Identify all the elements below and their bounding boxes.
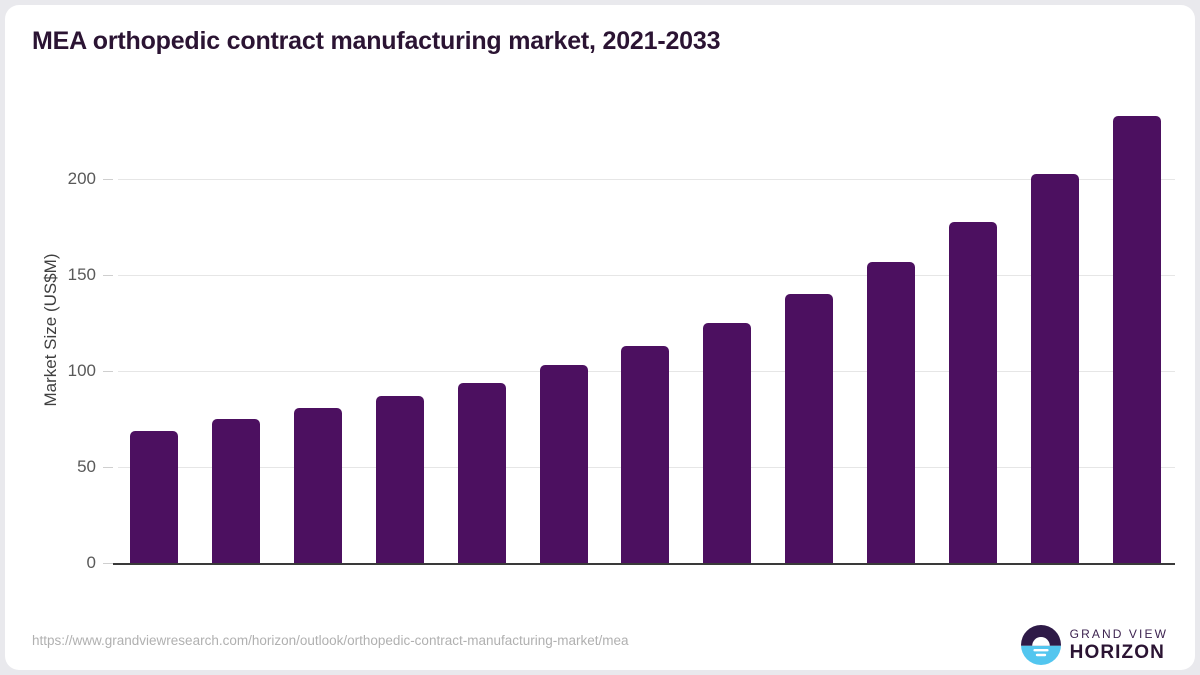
bar[interactable] xyxy=(458,383,506,563)
chart-plot-area: Market Size (US$M) 050100150200 20212022… xyxy=(113,95,1178,565)
bar[interactable] xyxy=(1031,174,1079,563)
y-axis-tick-mark xyxy=(103,467,113,468)
bar-slot xyxy=(195,95,277,563)
bar[interactable] xyxy=(212,419,260,563)
bar-slot xyxy=(359,95,441,563)
bar[interactable] xyxy=(621,346,669,563)
bar-slot xyxy=(523,95,605,563)
bar[interactable] xyxy=(703,323,751,563)
y-axis-tick-mark xyxy=(103,563,113,564)
bar-slot xyxy=(932,95,1014,563)
y-axis-tick-label: 0 xyxy=(26,553,96,573)
source-url[interactable]: https://www.grandviewresearch.com/horizo… xyxy=(32,633,629,648)
bar-slot xyxy=(686,95,768,563)
y-axis-tick-label: 150 xyxy=(26,265,96,285)
logo-text: GRAND VIEW HORIZON xyxy=(1070,628,1168,662)
bar-slot xyxy=(605,95,687,563)
bar-slot xyxy=(1014,95,1096,563)
bar-slot xyxy=(850,95,932,563)
plot-inner: 050100150200 202120222023202420252026202… xyxy=(113,95,1178,563)
chart-card: MEA orthopedic contract manufacturing ma… xyxy=(5,5,1195,670)
bar[interactable] xyxy=(294,408,342,563)
page-title: MEA orthopedic contract manufacturing ma… xyxy=(32,27,720,56)
bar[interactable] xyxy=(785,294,833,563)
bar-slot xyxy=(277,95,359,563)
bar-slot xyxy=(113,95,195,563)
logo-line-horizon: HORIZON xyxy=(1070,643,1168,662)
y-axis-tick-label: 50 xyxy=(26,457,96,477)
bar[interactable] xyxy=(130,431,178,563)
x-axis-line xyxy=(113,563,1175,565)
y-axis-tick-label: 200 xyxy=(26,169,96,189)
bar[interactable] xyxy=(867,262,915,563)
logo-line-grand-view: GRAND VIEW xyxy=(1070,628,1168,640)
bar-slot xyxy=(768,95,850,563)
y-axis-tick-mark xyxy=(103,371,113,372)
bar[interactable] xyxy=(540,365,588,563)
y-axis-tick-label: 100 xyxy=(26,361,96,381)
horizon-sun-circle-icon xyxy=(1021,625,1061,665)
y-axis-tick-mark xyxy=(103,179,113,180)
bar[interactable] xyxy=(1113,116,1161,563)
y-axis-tick-mark xyxy=(103,275,113,276)
bar[interactable] xyxy=(949,222,997,563)
bar-slot xyxy=(1096,95,1178,563)
bar-slot xyxy=(441,95,523,563)
bar[interactable] xyxy=(376,396,424,563)
brand-logo[interactable]: GRAND VIEW HORIZON xyxy=(1021,625,1168,665)
